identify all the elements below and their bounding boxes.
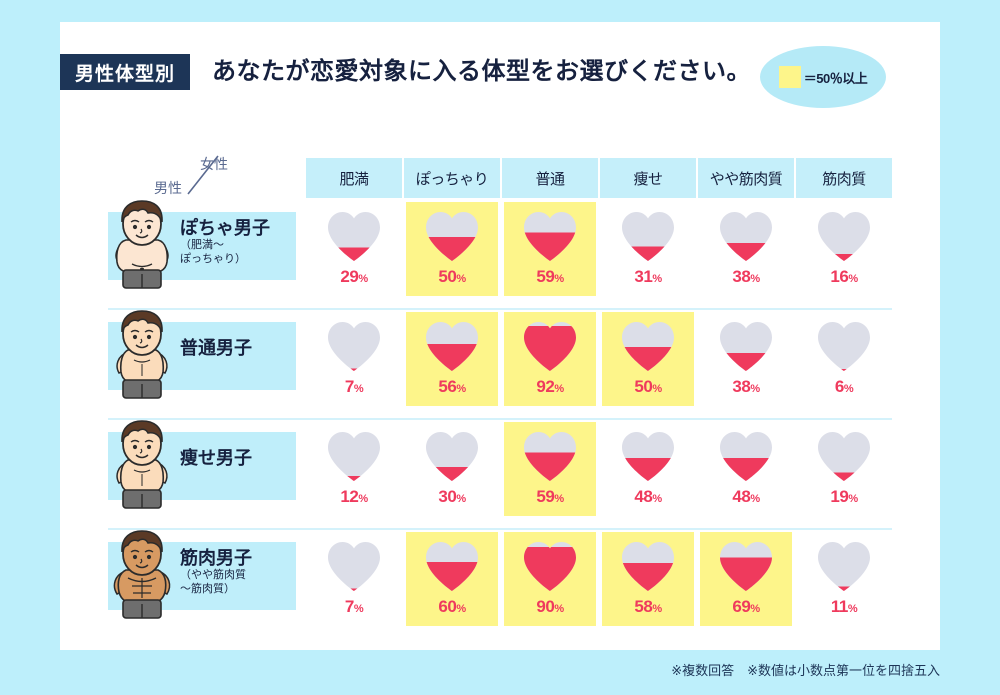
cell-value: 31%: [634, 267, 661, 287]
cell-value: 11%: [831, 597, 857, 617]
row-label-name: 痩せ男子: [180, 444, 252, 470]
cell-group: 7% 56% 92% 50% 38% 6%: [306, 310, 892, 410]
col-axis-label: 女性: [200, 154, 228, 174]
matrix-cell: 59%: [502, 200, 598, 300]
heart-gauge: [325, 430, 383, 482]
matrix-cell: 19%: [796, 420, 892, 520]
cell-group: 12% 30% 59% 48% 48% 19%: [306, 420, 892, 520]
matrix-cell: 90%: [502, 530, 598, 630]
row-label-4: 筋肉男子（やや筋肉質 〜筋肉質）: [108, 542, 296, 610]
column-header-5: やや筋肉質: [698, 158, 794, 198]
heart-icon: [815, 320, 873, 372]
matrix-body: ぽちゃ男子（肥満〜 ぽっちゃり） 29% 50% 59% 31%: [0, 200, 1000, 640]
avatar: [104, 528, 180, 624]
heart-icon: [325, 430, 383, 482]
matrix-cell: 56%: [404, 310, 500, 410]
heart-icon: [325, 540, 383, 592]
cell-value: 60%: [438, 597, 465, 617]
avatar-illustration: [104, 198, 180, 294]
cell-value: 92%: [536, 377, 563, 397]
matrix-cell: 38%: [698, 200, 794, 300]
row-axis-label: 男性: [154, 178, 182, 198]
heart-gauge: [815, 430, 873, 482]
heart-gauge: [717, 320, 775, 372]
page-title: あなたが恋愛対象に入る体型をお選びください。: [212, 52, 751, 92]
row-label-2: 普通男子: [108, 322, 296, 390]
axis-corner-label: 男性 女性: [148, 152, 268, 204]
cell-value: 69%: [732, 597, 759, 617]
cell-group: 7% 60% 90% 58% 69% 11%: [306, 530, 892, 630]
heart-gauge: [521, 210, 579, 262]
heart-icon: [717, 210, 775, 262]
row-label-sub: （肥満〜 ぽっちゃり）: [180, 238, 246, 266]
cell-value: 38%: [732, 377, 759, 397]
column-header-1: 肥満: [306, 158, 402, 198]
avatar-illustration: [104, 418, 180, 514]
heart-gauge: [619, 540, 677, 592]
heart-icon: [423, 430, 481, 482]
avatar: [104, 198, 180, 294]
avatar: [104, 418, 180, 514]
matrix-cell: 50%: [600, 310, 696, 410]
heart-gauge: [619, 430, 677, 482]
cell-value: 56%: [438, 377, 465, 397]
matrix-cell: 30%: [404, 420, 500, 520]
matrix-cell: 59%: [502, 420, 598, 520]
heart-icon: [619, 320, 677, 372]
cell-value: 7%: [345, 377, 363, 397]
legend-label: ＝50％以上: [804, 68, 867, 87]
cell-value: 12%: [340, 487, 367, 507]
heart-icon: [815, 430, 873, 482]
cell-value: 48%: [634, 487, 661, 507]
heart-gauge: [717, 430, 775, 482]
heart-icon: [815, 210, 873, 262]
avatar: [104, 308, 180, 404]
column-header-6: 筋肉質: [796, 158, 892, 198]
matrix-row: 痩せ男子 12% 30% 59% 48% 48%: [0, 420, 1000, 530]
matrix-cell: 38%: [698, 310, 794, 410]
cell-value: 30%: [438, 487, 465, 507]
row-label-name: 筋肉男子: [180, 544, 252, 570]
heart-icon: [717, 320, 775, 372]
heart-icon: [717, 430, 775, 482]
cell-value: 90%: [536, 597, 563, 617]
header: 男性体型別 あなたが恋愛対象に入る体型をお選びください。 ＝50％以上: [60, 48, 900, 102]
heart-gauge: [423, 430, 481, 482]
matrix-cell: 69%: [698, 530, 794, 630]
cell-value: 16%: [830, 267, 857, 287]
avatar-illustration: [104, 528, 180, 624]
matrix-cell: 48%: [698, 420, 794, 520]
heart-icon: [521, 210, 579, 262]
cell-value: 58%: [634, 597, 661, 617]
avatar-illustration: [104, 308, 180, 404]
heart-gauge: [423, 320, 481, 372]
matrix-cell: 92%: [502, 310, 598, 410]
heart-gauge: [521, 430, 579, 482]
matrix-cell: 48%: [600, 420, 696, 520]
heart-icon: [423, 320, 481, 372]
cell-value: 38%: [732, 267, 759, 287]
heart-icon: [521, 540, 579, 592]
cell-value: 59%: [536, 267, 563, 287]
row-label-name: 普通男子: [180, 334, 252, 360]
heart-gauge: [717, 210, 775, 262]
row-label-name: ぽちゃ男子: [180, 214, 270, 240]
cell-group: 29% 50% 59% 31% 38% 16%: [306, 200, 892, 300]
heart-icon: [619, 210, 677, 262]
matrix-cell: 7%: [306, 310, 402, 410]
heart-gauge: [815, 320, 873, 372]
matrix-cell: 31%: [600, 200, 696, 300]
heart-gauge: [325, 320, 383, 372]
cell-value: 6%: [835, 377, 853, 397]
heart-gauge: [325, 540, 383, 592]
row-label-1: ぽちゃ男子（肥満〜 ぽっちゃり）: [108, 212, 296, 280]
matrix-row: ぽちゃ男子（肥満〜 ぽっちゃり） 29% 50% 59% 31%: [0, 200, 1000, 310]
matrix-row: 普通男子 7% 56% 92% 50% 38%: [0, 310, 1000, 420]
matrix-cell: 7%: [306, 530, 402, 630]
heart-gauge: [423, 210, 481, 262]
matrix-cell: 12%: [306, 420, 402, 520]
heart-icon: [325, 320, 383, 372]
heart-gauge: [325, 210, 383, 262]
heart-gauge: [521, 320, 579, 372]
matrix-cell: 16%: [796, 200, 892, 300]
heart-icon: [619, 540, 677, 592]
heart-icon: [521, 320, 579, 372]
cell-value: 50%: [634, 377, 661, 397]
matrix-cell: 6%: [796, 310, 892, 410]
matrix-cell: 60%: [404, 530, 500, 630]
cell-value: 50%: [438, 267, 465, 287]
legend-badge: ＝50％以上: [760, 46, 886, 108]
matrix-cell: 29%: [306, 200, 402, 300]
heart-gauge: [619, 320, 677, 372]
matrix-row: 筋肉男子（やや筋肉質 〜筋肉質） 7% 60% 90% 58%: [0, 530, 1000, 640]
heart-gauge: [423, 540, 481, 592]
column-header-2: ぽっちゃり: [404, 158, 500, 198]
column-header-4: 痩せ: [600, 158, 696, 198]
heart-gauge: [815, 540, 873, 592]
footer-notes: ※複数回答 ※数値は小数点第一位を四捨五入: [0, 660, 940, 679]
heart-gauge: [619, 210, 677, 262]
heart-gauge: [521, 540, 579, 592]
cell-value: 29%: [340, 267, 367, 287]
heart-icon: [619, 430, 677, 482]
cell-value: 48%: [732, 487, 759, 507]
heart-gauge: [717, 540, 775, 592]
column-header-row: 肥満ぽっちゃり普通痩せやや筋肉質筋肉質: [306, 158, 892, 198]
row-label-3: 痩せ男子: [108, 432, 296, 500]
cell-value: 7%: [345, 597, 363, 617]
category-tag: 男性体型別: [60, 54, 190, 90]
heart-icon: [717, 540, 775, 592]
column-header-3: 普通: [502, 158, 598, 198]
heart-icon: [325, 210, 383, 262]
row-label-sub: （やや筋肉質 〜筋肉質）: [180, 568, 246, 596]
cell-value: 19%: [830, 487, 857, 507]
heart-icon: [815, 540, 873, 592]
heart-icon: [521, 430, 579, 482]
legend-swatch-icon: [779, 66, 801, 88]
heart-gauge: [815, 210, 873, 262]
heart-icon: [423, 540, 481, 592]
matrix-cell: 58%: [600, 530, 696, 630]
cell-value: 59%: [536, 487, 563, 507]
matrix-cell: 50%: [404, 200, 500, 300]
heart-icon: [423, 210, 481, 262]
matrix-cell: 11%: [796, 530, 892, 630]
